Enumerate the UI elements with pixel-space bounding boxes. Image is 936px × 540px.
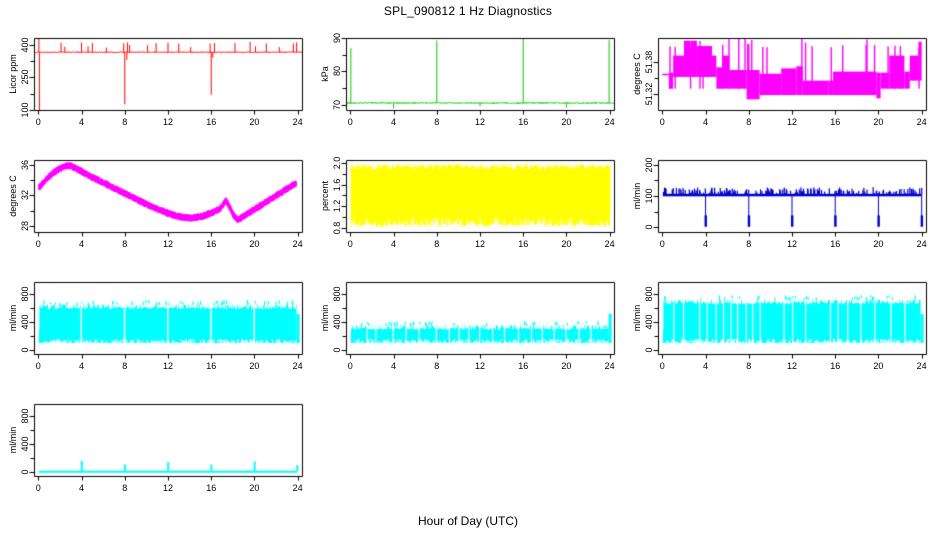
xtick-gas-stream-rh-1: 4 [380, 239, 408, 249]
panel-gas-stream-rh: Gas Stream RHpercent0.81.21.62.004812162… [312, 144, 624, 266]
xtick-line-1-flow-4: 16 [197, 361, 225, 371]
ylabel-gas-stream-rh: percent [320, 181, 330, 211]
panel-line-3-flow: Line 3 Flowml/min040080004812162024 [624, 266, 936, 388]
ytick-li820-pressure-2: 90 [332, 33, 342, 43]
ytick-sample-flow-0: 0 [644, 225, 654, 230]
xtick-line-1-flow-1: 4 [68, 361, 96, 371]
xtick-line-3-flow-6: 24 [908, 361, 936, 371]
figure-title: SPL_090812 1 Hz Diagnostics [0, 4, 936, 18]
ytick-line-4-lt-flow-0: 0 [20, 469, 30, 474]
ytick-sample-flow-1: 100 [644, 188, 654, 203]
ytick-gas-stream-rh-2: 1.6 [332, 178, 342, 191]
ytick-li820-co2-1: 250 [20, 70, 30, 85]
xtick-li820-temperature-0: 0 [648, 117, 676, 127]
xtick-li820-pressure-2: 8 [423, 117, 451, 127]
xtick-li820-pressure-4: 16 [509, 117, 537, 127]
ytick-li820-co2-0: 100 [20, 102, 30, 117]
xtick-ambient-box-temperature-2: 8 [111, 239, 139, 249]
xtick-li820-pressure-1: 4 [380, 117, 408, 127]
ylabel-li820-co2: Licor ppm [8, 54, 18, 94]
ytick-li820-temperature-1: 51.38 [644, 51, 654, 74]
panel-li820-pressure: Li-820 PressurekPa70809004812162024 [312, 22, 624, 144]
xtick-sample-flow-2: 8 [735, 239, 763, 249]
xtick-ambient-box-temperature-4: 16 [197, 239, 225, 249]
xtick-line-3-flow-5: 20 [864, 361, 892, 371]
xtick-li820-temperature-2: 8 [735, 117, 763, 127]
xtick-line-2-flow-1: 4 [380, 361, 408, 371]
xtick-li820-pressure-0: 0 [336, 117, 364, 127]
panel-line-4-lt-flow: Line 4 (LT) Flowml/min040080004812162024 [0, 388, 312, 510]
diagnostics-figure: SPL_090812 1 Hz Diagnostics Hour of Day … [0, 0, 936, 540]
ytick-gas-stream-rh-1: 1.2 [332, 200, 342, 213]
xtick-gas-stream-rh-2: 8 [423, 239, 451, 249]
panel-ambient-box-temperature: Ambient Box Temperaturedegrees C28323604… [0, 144, 312, 266]
panel-li820-temperature: Li-820 Temperaturedegrees C51.3251.38048… [624, 22, 936, 144]
ytick-line-3-flow-1: 400 [644, 315, 654, 330]
xtick-line-1-flow-2: 8 [111, 361, 139, 371]
xtick-sample-flow-6: 24 [908, 239, 936, 249]
figure-xaxis-label: Hour of Day (UTC) [0, 514, 936, 528]
ytick-li820-pressure-0: 70 [332, 100, 342, 110]
xtick-line-4-lt-flow-4: 16 [197, 483, 225, 493]
xtick-li820-pressure-6: 24 [596, 117, 624, 127]
xtick-sample-flow-5: 20 [864, 239, 892, 249]
xtick-line-1-flow-6: 24 [284, 361, 312, 371]
ytick-sample-flow-2: 200 [644, 157, 654, 172]
ytick-line-4-lt-flow-2: 800 [20, 409, 30, 424]
ytick-ambient-box-temperature-2: 36 [20, 160, 30, 170]
xtick-ambient-box-temperature-0: 0 [24, 239, 52, 249]
ytick-line-4-lt-flow-1: 400 [20, 437, 30, 452]
ytick-line-1-flow-0: 0 [20, 347, 30, 352]
ylabel-ambient-box-temperature: degrees C [8, 175, 18, 217]
xtick-line-2-flow-6: 24 [596, 361, 624, 371]
xtick-gas-stream-rh-6: 24 [596, 239, 624, 249]
xtick-li820-co2-5: 20 [240, 117, 268, 127]
ytick-line-2-flow-1: 400 [332, 315, 342, 330]
xtick-line-3-flow-4: 16 [821, 361, 849, 371]
xtick-gas-stream-rh-5: 20 [552, 239, 580, 249]
xtick-line-4-lt-flow-6: 24 [284, 483, 312, 493]
xtick-line-2-flow-4: 16 [509, 361, 537, 371]
xtick-ambient-box-temperature-6: 24 [284, 239, 312, 249]
xtick-line-4-lt-flow-5: 20 [240, 483, 268, 493]
ytick-ambient-box-temperature-0: 28 [20, 221, 30, 231]
ytick-line-1-flow-1: 400 [20, 315, 30, 330]
xtick-line-2-flow-3: 12 [466, 361, 494, 371]
xtick-line-4-lt-flow-0: 0 [24, 483, 52, 493]
xtick-ambient-box-temperature-1: 4 [68, 239, 96, 249]
ytick-ambient-box-temperature-1: 32 [20, 190, 30, 200]
xtick-li820-co2-3: 12 [154, 117, 182, 127]
xtick-line-3-flow-0: 0 [648, 361, 676, 371]
xtick-li820-pressure-5: 20 [552, 117, 580, 127]
xtick-ambient-box-temperature-3: 12 [154, 239, 182, 249]
xtick-li820-temperature-3: 12 [778, 117, 806, 127]
xtick-li820-co2-2: 8 [111, 117, 139, 127]
ytick-li820-pressure-1: 80 [332, 66, 342, 76]
ytick-li820-temperature-0: 51.32 [644, 83, 654, 106]
xtick-gas-stream-rh-0: 0 [336, 239, 364, 249]
xtick-sample-flow-0: 0 [648, 239, 676, 249]
xtick-line-2-flow-5: 20 [552, 361, 580, 371]
ylabel-line-1-flow: ml/min [8, 305, 18, 332]
xtick-ambient-box-temperature-5: 20 [240, 239, 268, 249]
xtick-li820-co2-4: 16 [197, 117, 225, 127]
xtick-line-4-lt-flow-3: 12 [154, 483, 182, 493]
ytick-li820-co2-2: 400 [20, 37, 30, 52]
panel-line-2-flow: Line 2 Flowml/min040080004812162024 [312, 266, 624, 388]
xtick-line-4-lt-flow-2: 8 [111, 483, 139, 493]
xtick-li820-temperature-1: 4 [692, 117, 720, 127]
xtick-gas-stream-rh-4: 16 [509, 239, 537, 249]
xtick-line-3-flow-1: 4 [692, 361, 720, 371]
panel-li820-co2: Li-820 CO2Licor ppm10025040004812162024 [0, 22, 312, 144]
ylabel-line-3-flow: ml/min [632, 305, 642, 332]
xtick-line-2-flow-0: 0 [336, 361, 364, 371]
ylabel-line-4-lt-flow: ml/min [8, 427, 18, 454]
xtick-line-4-lt-flow-1: 4 [68, 483, 96, 493]
ytick-line-3-flow-0: 0 [644, 347, 654, 352]
xtick-sample-flow-4: 16 [821, 239, 849, 249]
xtick-li820-temperature-6: 24 [908, 117, 936, 127]
ytick-gas-stream-rh-0: 0.8 [332, 221, 342, 234]
xtick-line-1-flow-3: 12 [154, 361, 182, 371]
xtick-gas-stream-rh-3: 12 [466, 239, 494, 249]
xtick-li820-temperature-4: 16 [821, 117, 849, 127]
ylabel-line-2-flow: ml/min [320, 305, 330, 332]
ylabel-li820-pressure: kPa [320, 66, 330, 82]
xtick-li820-pressure-3: 12 [466, 117, 494, 127]
ylabel-li820-temperature: degrees C [632, 53, 642, 95]
xtick-line-2-flow-2: 8 [423, 361, 451, 371]
xtick-li820-temperature-5: 20 [864, 117, 892, 127]
xtick-sample-flow-3: 12 [778, 239, 806, 249]
ytick-gas-stream-rh-3: 2.0 [332, 157, 342, 170]
ytick-line-2-flow-0: 0 [332, 347, 342, 352]
xtick-li820-co2-6: 24 [284, 117, 312, 127]
xtick-line-3-flow-3: 12 [778, 361, 806, 371]
ytick-line-3-flow-2: 800 [644, 287, 654, 302]
ylabel-sample-flow: ml/min [632, 183, 642, 210]
xtick-line-1-flow-0: 0 [24, 361, 52, 371]
xtick-li820-co2-1: 4 [68, 117, 96, 127]
panel-sample-flow: Sample Flowml/min010020004812162024 [624, 144, 936, 266]
xtick-line-1-flow-5: 20 [240, 361, 268, 371]
panel-line-1-flow: Line 1 Flowml/min040080004812162024 [0, 266, 312, 388]
ytick-line-1-flow-2: 800 [20, 287, 30, 302]
xtick-sample-flow-1: 4 [692, 239, 720, 249]
xtick-line-3-flow-2: 8 [735, 361, 763, 371]
ytick-line-2-flow-2: 800 [332, 287, 342, 302]
xtick-li820-co2-0: 0 [24, 117, 52, 127]
